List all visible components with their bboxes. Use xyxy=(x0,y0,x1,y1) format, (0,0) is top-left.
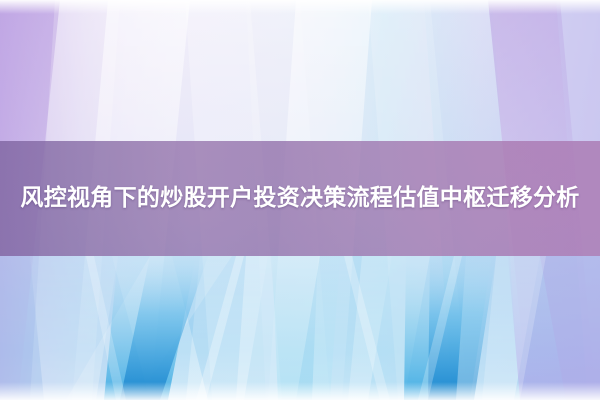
title-overlay-band: 风控视角下的炒股开户投资决策流程估值中枢迁移分析 xyxy=(0,141,600,256)
cover-banner: 风控视角下的炒股开户投资决策流程估值中枢迁移分析 xyxy=(0,0,600,400)
page-title: 风控视角下的炒股开户投资决策流程估值中枢迁移分析 xyxy=(8,180,592,217)
